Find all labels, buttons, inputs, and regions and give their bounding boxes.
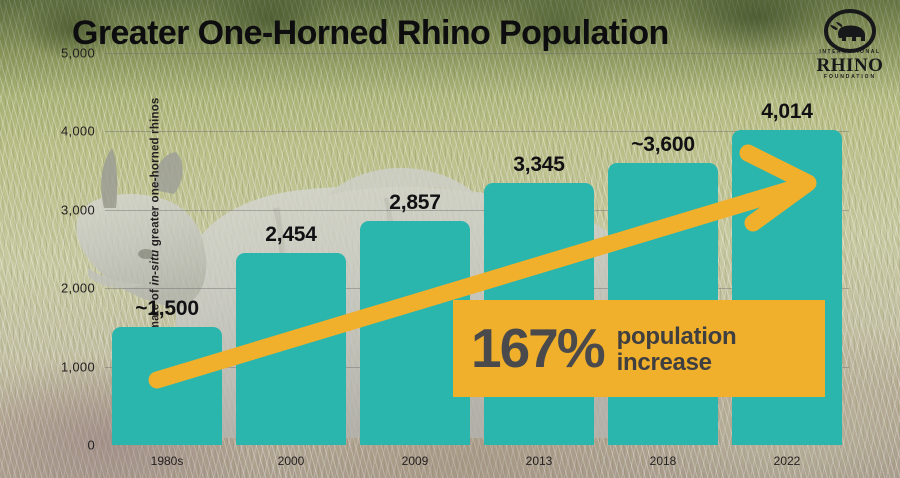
y-axis-tick-label: 0 — [87, 438, 95, 453]
x-axis-tick-label: 1980s — [151, 454, 184, 468]
callout-label-line1: population — [617, 323, 737, 350]
x-axis-tick-label: 2009 — [402, 454, 429, 468]
rhino-population-infographic: total estimate of in-situ greater one-ho… — [0, 0, 900, 478]
page-title: Greater One-Horned Rhino Population — [72, 14, 669, 53]
y-axis-tick-label: 3,000 — [61, 202, 95, 217]
x-axis-tick-label: 2018 — [650, 454, 677, 468]
y-axis-tick-label: 5,000 — [61, 46, 95, 61]
y-axis-tick-label: 1,000 — [61, 359, 95, 374]
x-axis-tick-label: 2000 — [278, 454, 305, 468]
percent-increase-callout: 167% population increase — [453, 300, 825, 397]
rhino-in-circle-icon — [820, 8, 880, 54]
y-axis-tick-label: 4,000 — [61, 124, 95, 139]
callout-percent: 167% — [471, 321, 604, 376]
callout-label: population increase — [617, 324, 737, 375]
callout-label-line2: increase — [617, 349, 712, 376]
x-axis-tick-label: 2022 — [774, 454, 801, 468]
x-axis-tick-label: 2013 — [526, 454, 553, 468]
y-axis-tick-label: 2,000 — [61, 281, 95, 296]
